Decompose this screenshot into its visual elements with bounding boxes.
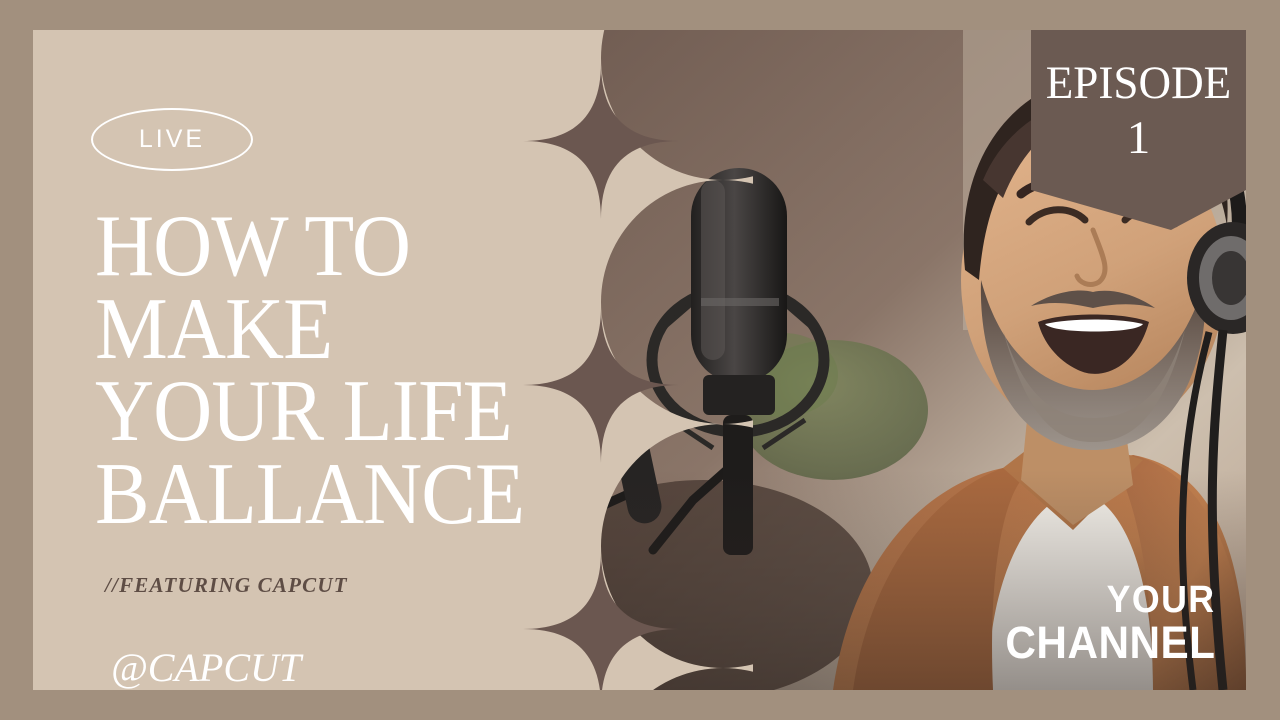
social-handle: @CAPCUT (111, 644, 301, 690)
headline-line-4: BALLANCE (95, 454, 523, 537)
channel-name: YOUR CHANNEL (992, 581, 1216, 666)
headline: HOW TO MAKE YOUR LIFE BALLANCE (95, 206, 555, 537)
live-badge: LIVE (91, 108, 253, 171)
headline-line-2: MAKE (95, 289, 523, 372)
headline-line-1: HOW TO (95, 206, 523, 289)
channel-name-line-2: CHANNEL (1005, 620, 1215, 666)
channel-name-line-1: YOUR (1005, 581, 1215, 620)
headline-line-3: YOUR LIFE (95, 371, 523, 454)
episode-banner: EPISODE 1 (1031, 30, 1246, 230)
live-badge-label: LIVE (139, 127, 205, 152)
video-thumbnail: LIVE HOW TO MAKE YOUR LIFE BALLANCE //FE… (0, 0, 1280, 720)
subtitle: //FEATURING CAPCUT (105, 573, 348, 598)
thumbnail-canvas: LIVE HOW TO MAKE YOUR LIFE BALLANCE //FE… (33, 30, 1246, 690)
